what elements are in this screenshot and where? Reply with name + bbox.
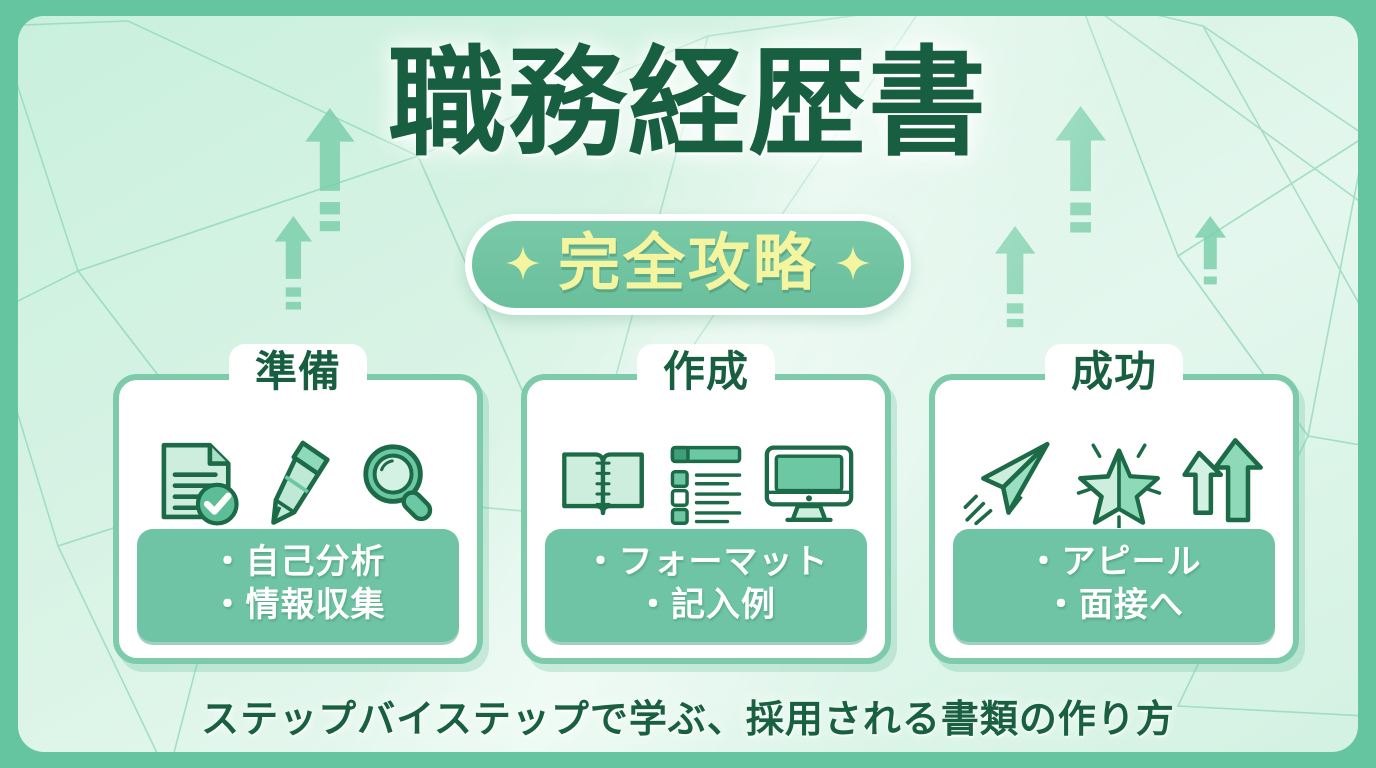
- list-item: ・自己分析: [147, 541, 449, 585]
- completion-badge: 完全攻略: [472, 221, 904, 308]
- badge-label: 完全攻略: [558, 230, 818, 295]
- poster: 職務経歴書 完全攻略 準備: [0, 0, 1376, 768]
- list-item: ・記入例: [555, 584, 857, 628]
- pencil-icon: [259, 436, 341, 528]
- card-tab-preparation: 準備: [229, 344, 367, 401]
- checklist-icon: [667, 439, 745, 525]
- card-row: 準備: [113, 374, 1299, 664]
- card-preparation[interactable]: 準備: [113, 374, 483, 664]
- list-item: ・フォーマット: [555, 541, 857, 585]
- card-list-success: ・アピール ・面接へ: [953, 529, 1275, 642]
- document-check-icon: [151, 436, 243, 528]
- card-tab-label: 作成: [663, 347, 749, 396]
- card-tab-label: 成功: [1071, 347, 1157, 396]
- card-icons-success: [935, 432, 1293, 532]
- footer-caption-text: ステップバイステップで学ぶ、採用される書類の作り方: [201, 697, 1175, 741]
- card-icons-preparation: [119, 432, 477, 532]
- poster-inner: 職務経歴書 完全攻略 準備: [18, 16, 1358, 752]
- card-icons-creation: [527, 432, 885, 532]
- list-item: ・面接へ: [963, 584, 1265, 628]
- badge-container: 完全攻略: [18, 214, 1358, 315]
- magnifier-icon: [357, 438, 445, 526]
- card-success[interactable]: 成功: [929, 374, 1299, 664]
- paper-plane-icon: [961, 437, 1057, 527]
- list-item: ・アピール: [963, 541, 1265, 585]
- page-title: 職務経歴書: [18, 40, 1358, 167]
- page-title-text: 職務経歴書: [388, 40, 988, 167]
- open-book-icon: [555, 439, 651, 525]
- star-icon: [1073, 436, 1165, 528]
- card-list-preparation: ・自己分析 ・情報収集: [137, 529, 459, 642]
- monitor-icon: [761, 439, 857, 525]
- card-tab-creation: 作成: [637, 344, 775, 401]
- card-tab-success: 成功: [1045, 344, 1183, 401]
- badge-outer-ring: 完全攻略: [465, 214, 911, 315]
- card-tab-label: 準備: [255, 347, 341, 396]
- list-item: ・情報収集: [147, 584, 449, 628]
- card-list-creation: ・フォーマット ・記入例: [545, 529, 867, 642]
- card-creation[interactable]: 作成: [521, 374, 891, 664]
- footer-caption: ステップバイステップで学ぶ、採用される書類の作り方: [18, 688, 1358, 743]
- sparkle-icon: [836, 246, 870, 280]
- sparkle-icon: [506, 246, 540, 280]
- up-arrows-icon: [1181, 436, 1267, 528]
